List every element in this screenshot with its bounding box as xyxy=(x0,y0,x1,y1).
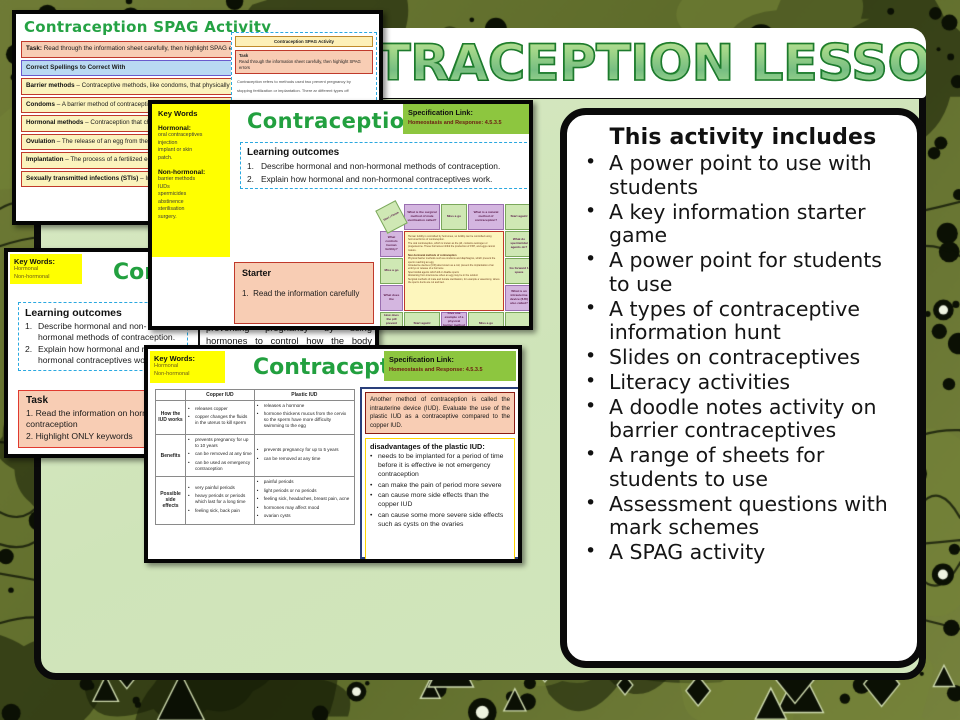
learning-outcome-item: 1. Describe hormonal and non-hormonal me… xyxy=(247,161,525,171)
table-row: How the IUD works releases copper copper… xyxy=(156,401,355,435)
key-words-heading: Key Words: xyxy=(154,354,221,363)
task-item-text: Highlight ONLY keywords xyxy=(36,431,133,441)
list-number: 1. xyxy=(247,161,254,171)
board-info-p2: The oral contraceptive, which is known a… xyxy=(408,242,500,252)
key-word-item: IUDs xyxy=(158,184,225,192)
learning-outcome-text: Explain how hormonal and non-hormonal co… xyxy=(38,344,159,365)
spec-sub: Homeostasis and Response: 4.5.3.5 xyxy=(389,367,511,373)
key-word-item: Hormonal xyxy=(154,363,221,371)
learning-outcome-text: Explain how hormonal and non-hormonal co… xyxy=(261,174,492,184)
slide-preview-contraception-keywords[interactable]: Key Words Hormonal: oral contraceptives … xyxy=(148,100,533,330)
cell-item: can be used as emergency contraception xyxy=(188,460,252,472)
board-cell: What controls human fertility? xyxy=(380,231,403,257)
cell-item: can be removed at any time xyxy=(188,451,252,457)
task-item-text: Read the information on hormo contracept… xyxy=(26,408,154,429)
cell-item: hormone thickens mucus from the cervix s… xyxy=(257,411,352,429)
learning-outcomes-heading: Learning outcomes xyxy=(247,147,525,158)
key-words-box: Key Words Hormonal: oral contraceptives … xyxy=(152,104,230,257)
table-header-row: Copper IUD Plastic IUD xyxy=(156,390,355,401)
board-cell-filler xyxy=(505,312,533,330)
board-info-bullet: Surgical methods of male and female ster… xyxy=(408,278,500,285)
board-cell: Go forward 1 space xyxy=(505,258,533,284)
board-cell: What is the surgical method of male ster… xyxy=(404,204,440,230)
specification-link-box: Specification Link: Homeostasis and Resp… xyxy=(384,351,516,381)
evaluation-panel: Another method of contraception is calle… xyxy=(360,387,520,559)
spec-sub: Homeostasis and Response: 4.5.3.5 xyxy=(408,120,524,126)
contraception-board-game: Start / Finish What is the surgical meth… xyxy=(380,204,533,330)
starter-item: 1. Read the information carefully xyxy=(242,289,366,298)
cell-copper: prevents pregnancy for up to 10 years ca… xyxy=(186,434,255,476)
cell-item: painful periods xyxy=(257,479,352,485)
mini-spag-body: Contraception refers to methods used two… xyxy=(235,78,373,95)
board-info-bullet: Physical barrier methods such as condoms… xyxy=(408,257,500,264)
cell-copper: releases copper copper changes the fluid… xyxy=(186,401,255,435)
key-word-item: surgery. xyxy=(158,214,225,222)
column-header: Copper IUD xyxy=(186,390,255,401)
mini-body-line: Contraception refers to methods used two… xyxy=(237,78,371,86)
non-hormonal-label: Non-hormonal: xyxy=(158,169,225,176)
cell-item: feeling sick, back pain xyxy=(188,508,252,514)
board-cell: What do spermicidal agents do? xyxy=(505,231,533,257)
board-cell: Miss a go xyxy=(468,312,504,330)
row-header: How the IUD works xyxy=(156,401,186,435)
list-item: A power point to use with students xyxy=(579,152,907,200)
board-cell: Give one example of a physical barrier m… xyxy=(441,312,467,330)
key-word-item: injection xyxy=(158,140,225,148)
list-number: 2. xyxy=(25,344,32,355)
row-header: Possible side effects xyxy=(156,477,186,524)
spec-heading: Specification Link: xyxy=(408,108,524,117)
board-info-p1: Human fertility is controlled by hormone… xyxy=(408,235,500,242)
mini-body-line: stopping fertilization or implantation. … xyxy=(237,87,371,95)
starter-item-text: Read the information carefully xyxy=(253,289,359,298)
definition-term: Ovulation xyxy=(26,138,55,145)
disadvantage-item: can cause more side effects than the cop… xyxy=(370,492,510,510)
definition-term: Hormonal methods xyxy=(26,119,83,126)
board-cell: How does the pill prevent eggs from matu… xyxy=(380,312,403,330)
definition-term: Sexually transmitted infections (STIs) xyxy=(26,175,138,182)
definition-term: Barrier methods xyxy=(26,82,75,89)
key-word-item: Hormonal xyxy=(14,266,78,274)
key-word-item: implant or skin xyxy=(158,147,225,155)
board-cell: What is an intrauterine device (IUD) als… xyxy=(505,285,533,311)
disadvantage-item: can cause some more severe side effects … xyxy=(370,512,510,530)
cell-item: feeling sick, headaches, breast pain, ac… xyxy=(257,496,352,502)
list-item: A key information starter game xyxy=(579,201,907,249)
list-item: A SPAG activity xyxy=(579,541,907,565)
board-info-bullet: Intrauterine devices (IUD) also known as… xyxy=(408,264,500,271)
cell-item: ovarian cysts xyxy=(257,513,352,519)
list-item: A range of sheets for students to use xyxy=(579,444,907,492)
learning-outcome-item: 2. Explain how hormonal and non-hormonal… xyxy=(247,174,525,184)
cell-item: copper changes the fluids in the uterus … xyxy=(188,414,252,426)
cell-item: very painful periods xyxy=(188,485,252,491)
column-header xyxy=(156,390,186,401)
starter-heading: Starter xyxy=(242,268,366,278)
hormonal-label: Hormonal: xyxy=(158,125,225,132)
key-words-box: Key Words: Hormonal Non-hormonal xyxy=(10,254,82,284)
cell-item: heavy periods or periods which last for … xyxy=(188,493,252,505)
spag-task-label: Task: xyxy=(26,45,42,52)
table-row: Possible side effects very painful perio… xyxy=(156,477,355,524)
board-info-panel: Human fertility is controlled by hormone… xyxy=(404,231,504,311)
key-word-item: Non-hormonal xyxy=(14,274,78,282)
activity-includes-panel: This activity includes A power point to … xyxy=(560,108,924,668)
card-title-contraception: Contraception xyxy=(247,109,420,133)
disadvantage-item: needs to be implanted for a period of ti… xyxy=(370,453,510,479)
slide-preview-iud-comparison[interactable]: Key Words: Hormonal Non-hormonal Contrac… xyxy=(144,345,522,563)
cell-item: releases copper xyxy=(188,406,252,412)
board-cell: Miss a go xyxy=(380,258,403,284)
list-item: A types of contraceptive information hun… xyxy=(579,298,907,346)
cell-plastic: painful periods light periods or no peri… xyxy=(254,477,354,524)
cell-item: prevents pregnancy for up to 10 years xyxy=(188,437,252,449)
cell-plastic: prevents pregnancy for up to 5 years can… xyxy=(254,434,354,476)
board-cell: Start again! xyxy=(505,204,533,230)
key-word-item: patch. xyxy=(158,155,225,163)
cell-copper: very painful periods heavy periods or pe… xyxy=(186,477,255,524)
specification-link-box: Specification Link: Homeostasis and Resp… xyxy=(403,104,529,134)
board-cell: What does the xyxy=(380,285,403,311)
includes-heading: This activity includes xyxy=(579,125,907,150)
cell-item: prevents pregnancy for up to 5 years xyxy=(257,447,352,453)
cell-item: light periods or no periods xyxy=(257,488,352,494)
key-word-item: sterilisation xyxy=(158,206,225,214)
cell-item: hormones may affect mood xyxy=(257,505,352,511)
list-item: A doodle notes activity on barrier contr… xyxy=(579,396,907,444)
list-item: A power point for students to use xyxy=(579,249,907,297)
mini-task-text: Read through the information sheet caref… xyxy=(239,59,361,70)
cell-item: can be removed at any time xyxy=(257,456,352,462)
board-cell: Start again! xyxy=(404,312,440,330)
key-word-item: abstinence xyxy=(158,199,225,207)
key-words-heading: Key Words xyxy=(158,109,225,118)
board-cell-start: Start / Finish xyxy=(375,200,408,234)
list-number: 2. xyxy=(247,174,254,184)
starter-box: Starter 1. Read the information carefull… xyxy=(234,262,374,324)
mini-spag-task: Task Read through the information sheet … xyxy=(235,50,373,74)
key-words-box: Key Words: Hormonal Non-hormonal xyxy=(150,351,225,383)
mini-spag-banner: Contraception SPAG Activity xyxy=(235,36,373,47)
disadvantages-box: disadvantages of the plastic IUD: needs … xyxy=(365,438,515,563)
definition-term: Implantation xyxy=(26,156,63,163)
list-item: Slides on contraceptives xyxy=(579,346,907,370)
disadvantage-item: can make the pain of period more severe xyxy=(370,482,510,491)
column-header: Plastic IUD xyxy=(254,390,354,401)
definition-term: Condoms xyxy=(26,101,55,108)
disadvantages-heading: disadvantages of the plastic IUD: xyxy=(370,442,510,451)
list-item: Assessment questions with mark schemes xyxy=(579,493,907,541)
learning-outcomes-box: Learning outcomes 1. Describe hormonal a… xyxy=(240,142,532,189)
spec-heading: Specification Link: xyxy=(389,355,511,364)
mini-task-label: Task xyxy=(239,53,248,58)
key-word-item: spermicides xyxy=(158,191,225,199)
board-cell: Miss a go xyxy=(441,204,467,230)
includes-list: A power point to use with students A key… xyxy=(579,152,907,565)
board-cell: What is a natural method of contraceptio… xyxy=(468,204,504,230)
list-number: 1. xyxy=(25,321,32,332)
iud-comparison-table: Copper IUD Plastic IUD How the IUD works… xyxy=(155,389,355,525)
evaluation-question: Another method of contraception is calle… xyxy=(365,392,515,434)
key-word-item: barrier methods xyxy=(158,176,225,184)
table-row: Benefits prevents pregnancy for up to 10… xyxy=(156,434,355,476)
key-word-item: oral contraceptives xyxy=(158,132,225,140)
list-item: Literacy activities xyxy=(579,371,907,395)
cell-item: releases a hormone xyxy=(257,403,352,409)
learning-outcome-text: Describe hormonal and non-hormonal metho… xyxy=(261,161,500,171)
key-words-heading: Key Words: xyxy=(14,257,78,266)
cell-plastic: releases a hormone hormone thickens mucu… xyxy=(254,401,354,435)
spag-task-text: Read through the information sheet caref… xyxy=(44,45,245,52)
key-word-item: Non-hormonal xyxy=(154,371,221,379)
row-header: Benefits xyxy=(156,434,186,476)
